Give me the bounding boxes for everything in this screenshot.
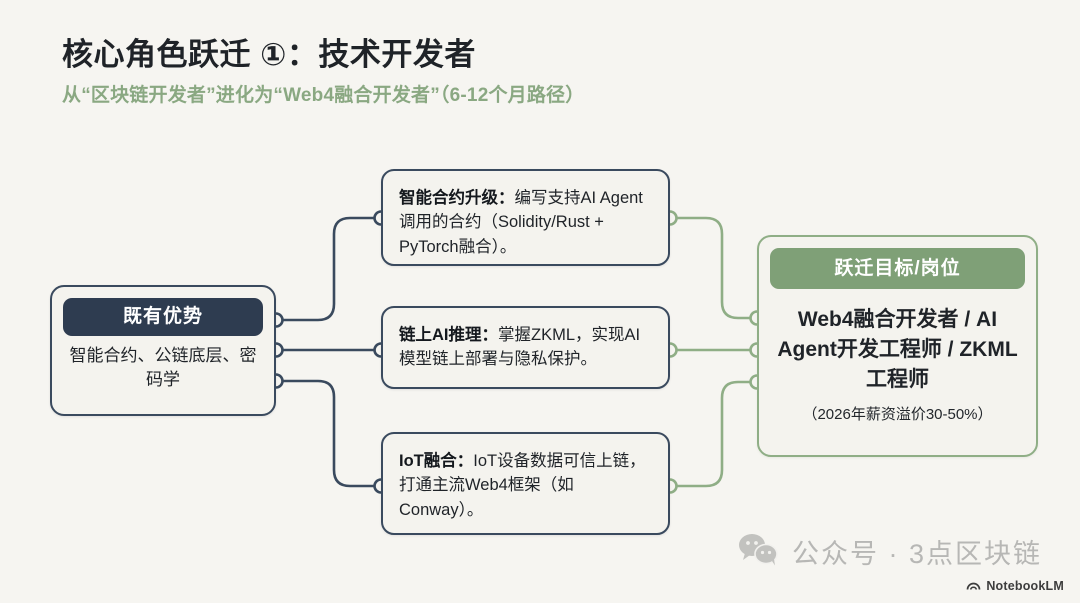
watermark: 公众号 · 3点区块链 — [738, 532, 1042, 571]
step-card-1-lead: 智能合约升级： — [399, 189, 515, 207]
target-node-main: Web4融合开发者 / AI Agent开发工程师 / ZKML工程师 — [759, 305, 1036, 394]
origin-node-body: 智能合约、公链底层、密码学 — [52, 344, 274, 392]
wire-origin-to-card3 — [276, 381, 381, 486]
step-card-3-text: IoT融合：IoT设备数据可信上链，打通主流Web4框架（如Conway）。 — [383, 434, 668, 537]
target-node[interactable]: 跃迁目标/岗位 Web4融合开发者 / AI Agent开发工程师 / ZKML… — [757, 235, 1038, 457]
step-card-1-text: 智能合约升级：编写支持AI Agent调用的合约（Solidity/Rust +… — [383, 171, 668, 274]
step-card-3[interactable]: IoT融合：IoT设备数据可信上链，打通主流Web4框架（如Conway）。 — [381, 432, 670, 535]
origin-node-header: 既有优势 — [63, 298, 263, 336]
wechat-icon — [738, 532, 780, 571]
page-subtitle: 从“区块链开发者”进化为“Web4融合开发者”（6-12个月路径） — [62, 84, 962, 109]
step-card-2-lead: 链上AI推理： — [399, 326, 498, 344]
wire-card1-to-target1 — [670, 218, 757, 318]
step-card-1[interactable]: 智能合约升级：编写支持AI Agent调用的合约（Solidity/Rust +… — [381, 169, 670, 266]
target-node-sub: （2026年薪资溢价30-50%） — [759, 405, 1036, 425]
notebooklm-label: NotebookLM — [986, 579, 1064, 593]
slide-canvas: 核心角色跃迁 ①：技术开发者 从“区块链开发者”进化为“Web4融合开发者”（6… — [0, 0, 1080, 603]
page-title: 核心角色跃迁 ①：技术开发者 — [62, 36, 962, 75]
notebooklm-icon — [966, 578, 981, 594]
target-node-header: 跃迁目标/岗位 — [770, 248, 1025, 289]
slide-header: 核心角色跃迁 ①：技术开发者 从“区块链开发者”进化为“Web4融合开发者”（6… — [62, 36, 962, 108]
wire-origin-to-card1 — [276, 218, 381, 320]
step-card-3-lead: IoT融合： — [399, 452, 473, 470]
wire-card3-to-target3 — [670, 382, 757, 486]
origin-node[interactable]: 既有优势 智能合约、公链底层、密码学 — [50, 285, 276, 416]
step-card-2[interactable]: 链上AI推理：掌握ZKML，实现AI模型链上部署与隐私保护。 — [381, 306, 670, 389]
watermark-text: 公众号 · 3点区块链 — [792, 532, 1042, 571]
notebooklm-badge: NotebookLM — [966, 578, 1064, 594]
step-card-2-text: 链上AI推理：掌握ZKML，实现AI模型链上部署与隐私保护。 — [383, 308, 668, 387]
